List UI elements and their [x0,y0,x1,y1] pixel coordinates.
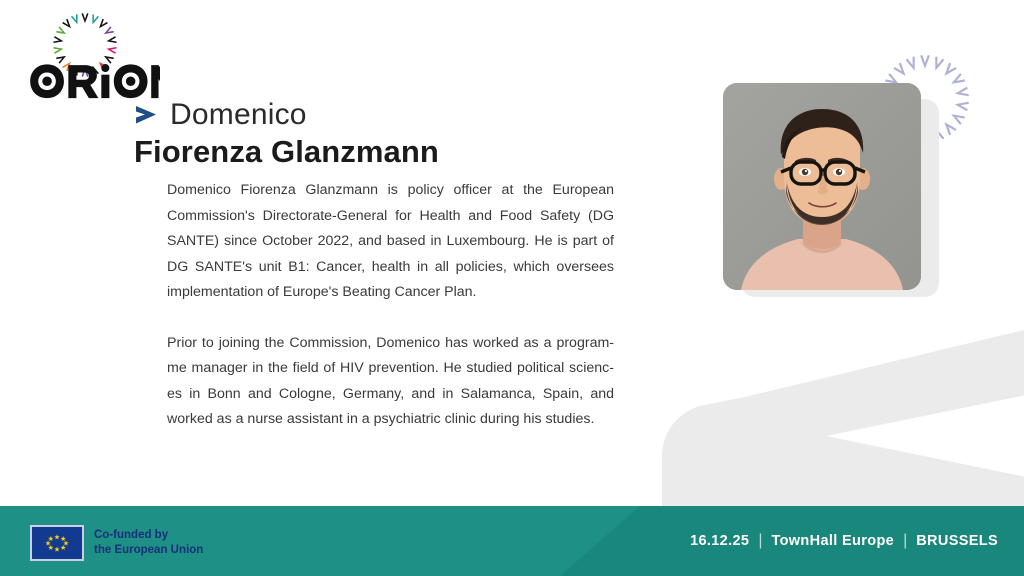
speaker-first-name-row: Domenico [134,98,654,132]
footer-bar: Co-funded by the European Union 16.12.25… [0,506,1024,576]
chevron-right-icon [134,104,164,126]
bio-paragraph-2: Prior to joining the Commission, Domenic… [167,331,614,433]
speaker-first-name: Domenico [170,98,307,132]
eu-funding-label: Co-funded by the European Union [94,528,203,558]
speaker-portrait-illustration [723,83,921,290]
event-separator-2: | [903,533,907,549]
bio-paragraph-1: Domenico Fiorenza Glanzmann is policy of… [167,178,614,306]
speaker-biography: Domenico Fiorenza Glanzmann is policy of… [167,178,614,433]
event-city: BRUSSELS [916,533,998,549]
event-date: 16.12.25 [690,533,749,549]
event-venue: TownHall Europe [771,533,894,549]
slide-canvas: Domenico Fiorenza Glanzmann Domenico Fio… [0,0,1024,576]
event-separator-1: | [758,533,762,549]
speaker-last-name: Fiorenza Glanzmann [134,134,654,170]
eu-funding-block: Co-funded by the European Union [30,525,203,561]
orion-logo [28,4,168,104]
speaker-name-block: Domenico Fiorenza Glanzmann [134,98,654,170]
european-union-flag-icon [30,525,84,561]
speaker-photo [723,83,921,290]
event-info: 16.12.25 | TownHall Europe | BRUSSELS [690,506,998,576]
